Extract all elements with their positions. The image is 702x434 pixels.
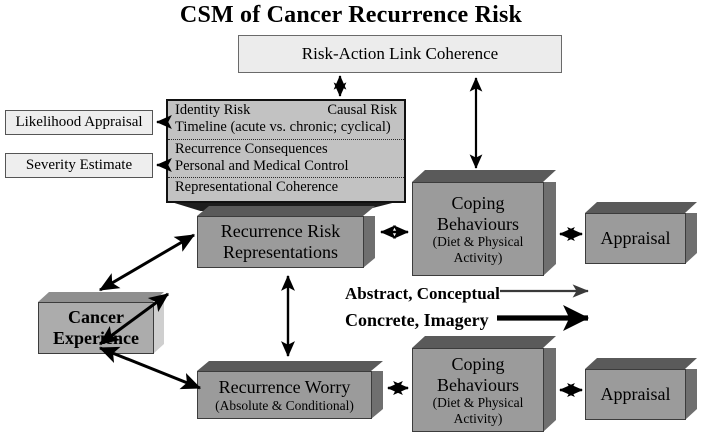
panel-row-identity: Identity Risk Causal Risk Timeline (acut…: [168, 101, 404, 139]
coping-top-line-2: Behaviours: [437, 214, 519, 235]
representations-line-2: Representations: [223, 242, 338, 263]
box-front-face: Cancer Experience: [38, 302, 154, 354]
appraisal-bottom-box: Appraisal: [585, 358, 697, 420]
box-top-face: [197, 361, 383, 371]
box-top-face: [412, 170, 556, 182]
coping-top-line-3: (Diet & Physical: [433, 234, 524, 249]
identity-risk-label: Identity Risk: [175, 102, 250, 119]
cancer-experience-line-2: Experience: [53, 328, 139, 349]
coping-top-line-4: Activity): [454, 250, 503, 265]
box-top-face: [412, 336, 556, 348]
legend-abstract-conceptual-label: Abstract, Conceptual: [345, 284, 500, 304]
representational-coherence-label: Representational Coherence: [175, 179, 397, 196]
arrow-cancer-experience-to-worry: [100, 348, 200, 388]
recurrence-risk-representations-box: Recurrence Risk Representations: [197, 206, 375, 268]
coping-bottom-line-1: Coping: [451, 354, 504, 375]
box-side-face: [543, 182, 556, 276]
box-side-face: [363, 216, 375, 268]
box-top-face: [38, 292, 164, 302]
coping-top-line-1: Coping: [451, 193, 504, 214]
coping-bottom-line-3: (Diet & Physical: [433, 395, 524, 410]
recurrence-consequences-label: Recurrence Consequences: [175, 141, 397, 158]
box-front-face: Appraisal: [585, 369, 686, 420]
diagram-canvas: CSM of Cancer Recurrence Risk Risk-Actio…: [0, 0, 702, 434]
severity-estimate-box: Severity Estimate: [5, 153, 153, 178]
box-side-face: [153, 302, 164, 354]
box-front-face: Recurrence Worry (Absolute & Conditional…: [197, 371, 372, 419]
recurrence-worry-box: Recurrence Worry (Absolute & Conditional…: [197, 361, 383, 419]
personal-medical-control-label: Personal and Medical Control: [175, 158, 397, 175]
coping-bottom-line-4: Activity): [454, 411, 503, 426]
timeline-label: Timeline (acute vs. chronic; cyclical): [175, 119, 397, 136]
box-front-face: Appraisal: [585, 213, 686, 264]
coping-behaviours-bottom-box: Coping Behaviours (Diet & Physical Activ…: [412, 336, 556, 432]
representations-line-1: Recurrence Risk: [221, 221, 340, 242]
box-top-face: [585, 202, 697, 213]
box-side-face: [685, 213, 697, 264]
panel-row-consequences: Recurrence Consequences Personal and Med…: [168, 139, 404, 177]
box-side-face: [371, 371, 383, 419]
causal-risk-label: Causal Risk: [327, 102, 397, 119]
box-front-face: Coping Behaviours (Diet & Physical Activ…: [412, 182, 544, 276]
arrow-experience-representations-diagonal: [100, 235, 194, 290]
appraisal-top-label: Appraisal: [601, 228, 671, 249]
cancer-experience-box: Cancer Experience: [38, 292, 164, 354]
worry-line-2: (Absolute & Conditional): [215, 398, 354, 413]
box-top-face: [585, 358, 697, 369]
cancer-experience-line-1: Cancer: [68, 307, 124, 328]
worry-line-1: Recurrence Worry: [219, 377, 351, 398]
likelihood-appraisal-box: Likelihood Appraisal: [5, 110, 153, 135]
box-top-face: [197, 206, 375, 216]
coping-bottom-line-2: Behaviours: [437, 375, 519, 396]
likelihood-appraisal-label: Likelihood Appraisal: [15, 114, 142, 131]
appraisal-bottom-label: Appraisal: [601, 384, 671, 405]
box-front-face: Recurrence Risk Representations: [197, 216, 364, 268]
risk-action-link-coherence-label: Risk-Action Link Coherence: [302, 45, 498, 64]
risk-action-link-coherence-box: Risk-Action Link Coherence: [238, 35, 562, 73]
page-title: CSM of Cancer Recurrence Risk: [0, 2, 702, 29]
box-side-face: [543, 348, 556, 432]
appraisal-top-box: Appraisal: [585, 202, 697, 264]
box-side-face: [685, 369, 697, 420]
coping-behaviours-top-box: Coping Behaviours (Diet & Physical Activ…: [412, 170, 556, 276]
box-front-face: Coping Behaviours (Diet & Physical Activ…: [412, 348, 544, 432]
severity-estimate-label: Severity Estimate: [26, 157, 132, 174]
panel-row-coherence: Representational Coherence: [168, 177, 404, 201]
legend-concrete-imagery-label: Concrete, Imagery: [345, 310, 489, 331]
recurrence-representation-panel: Identity Risk Causal Risk Timeline (acut…: [166, 99, 406, 203]
